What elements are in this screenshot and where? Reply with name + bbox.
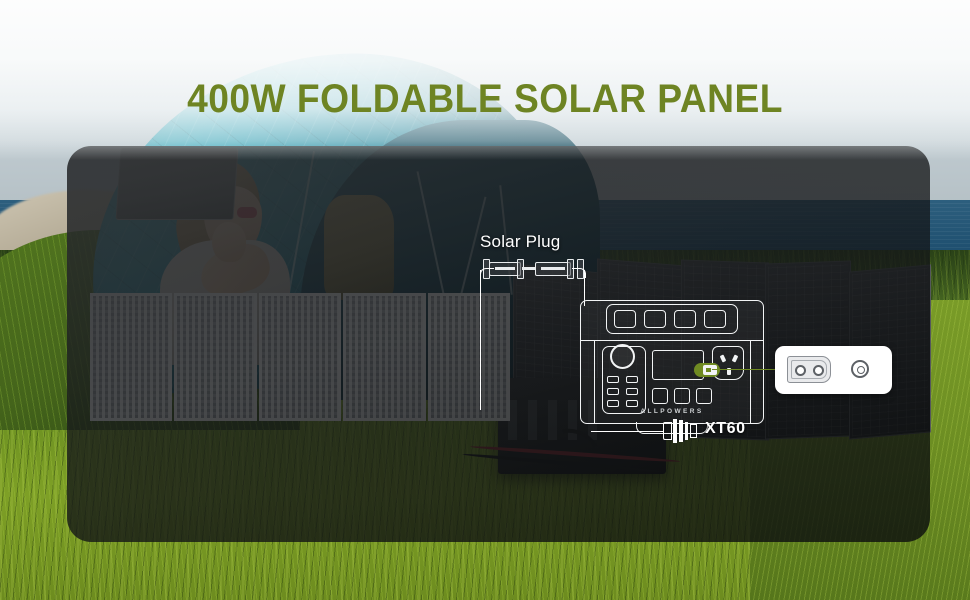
usb-port-icon — [696, 388, 712, 404]
control-button — [607, 400, 619, 407]
control-button — [607, 376, 619, 383]
connector-rib — [673, 419, 677, 443]
control-button — [626, 400, 638, 407]
connector-pin — [541, 267, 565, 270]
product-banner: Solar Plug — [0, 0, 970, 600]
port-slot — [706, 368, 711, 372]
connector-pin — [522, 267, 536, 270]
vent-icon — [674, 310, 696, 328]
dc-two-pin-port — [787, 356, 831, 383]
power-dial-icon — [610, 344, 635, 369]
outlet-slot — [720, 354, 727, 362]
usb-port-icon — [652, 388, 668, 404]
connector-pin — [495, 267, 515, 270]
power-station-diagram: ALLPOWERS — [580, 300, 764, 424]
connector-rib — [679, 420, 683, 442]
solar-input-port-detail — [775, 346, 892, 394]
port-pin — [795, 365, 806, 376]
connector-shell — [663, 422, 672, 440]
port-pin — [813, 365, 824, 376]
connector-tip — [690, 424, 697, 438]
leader-line-left — [480, 270, 492, 410]
control-button — [607, 388, 619, 395]
vent-icon — [704, 310, 726, 328]
brand-label: ALLPOWERS — [580, 408, 764, 415]
leader-line-xt60 — [591, 431, 663, 432]
page-title: 400W FOLDABLE SOLAR PANEL — [34, 76, 936, 122]
control-button — [626, 388, 638, 395]
solar-input-port-highlight — [694, 363, 720, 377]
vent-icon — [614, 310, 636, 328]
outlet-slot — [732, 354, 739, 362]
solar-plug-label: Solar Plug — [480, 232, 560, 252]
connector-rib — [685, 422, 688, 440]
xt60-label: XT60 — [705, 420, 746, 438]
panel-divider — [581, 340, 763, 341]
control-button — [626, 376, 638, 383]
usb-port-icon — [674, 388, 690, 404]
vent-icon — [644, 310, 666, 328]
round-dc-port — [851, 360, 869, 378]
